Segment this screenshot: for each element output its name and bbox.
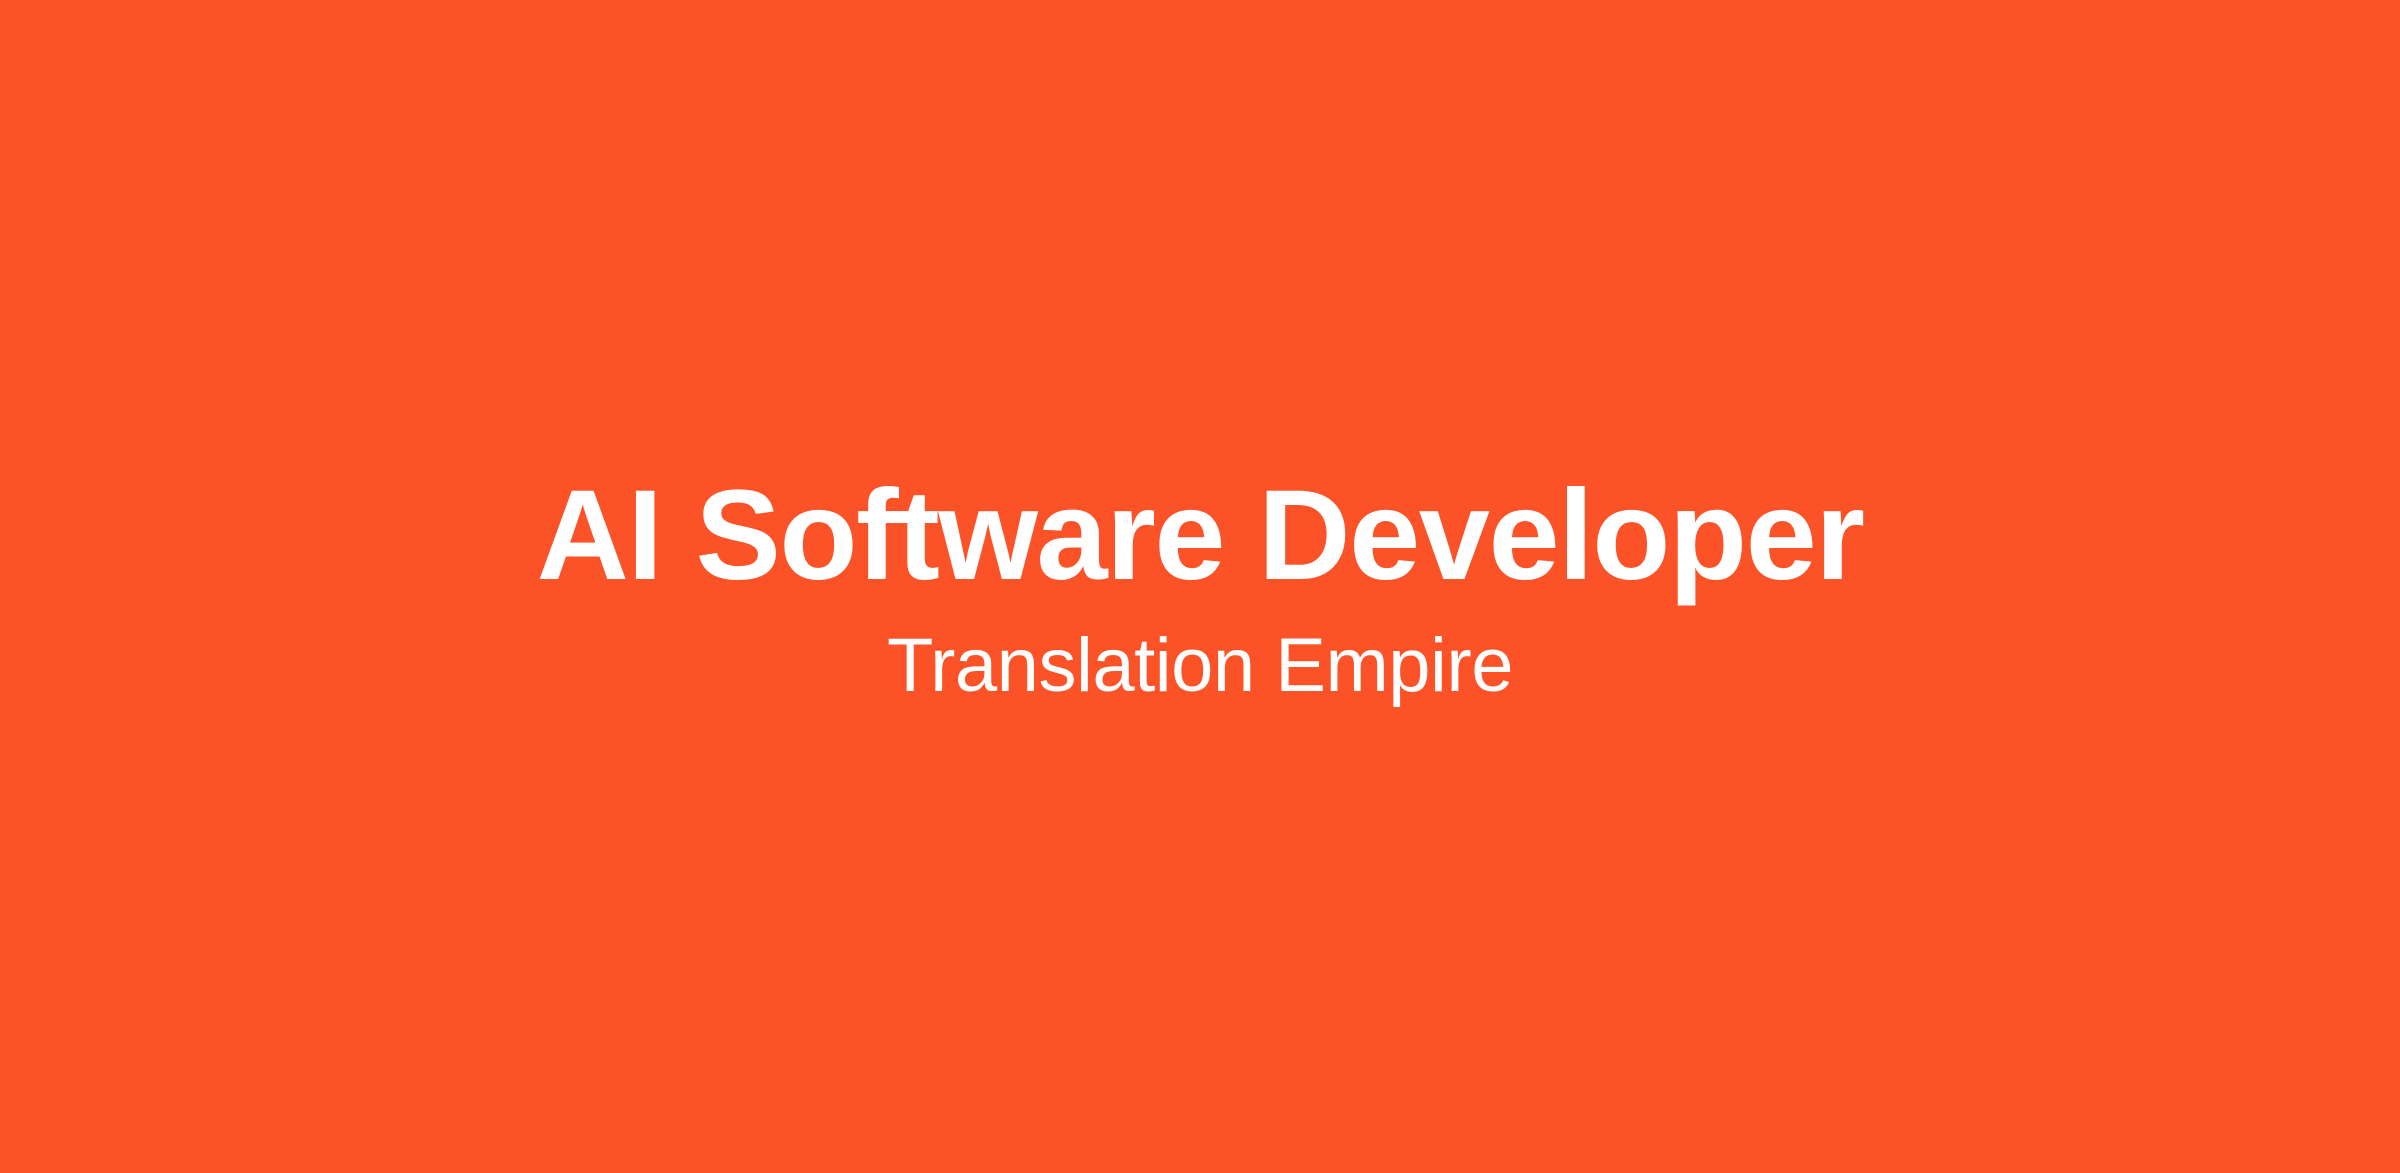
title-block: AI Software Developer Translation Empire (536, 472, 1863, 704)
title-slide: AI Software Developer Translation Empire (0, 0, 2400, 1173)
page-subtitle: Translation Empire (887, 628, 1513, 704)
page-title: AI Software Developer (536, 472, 1863, 600)
